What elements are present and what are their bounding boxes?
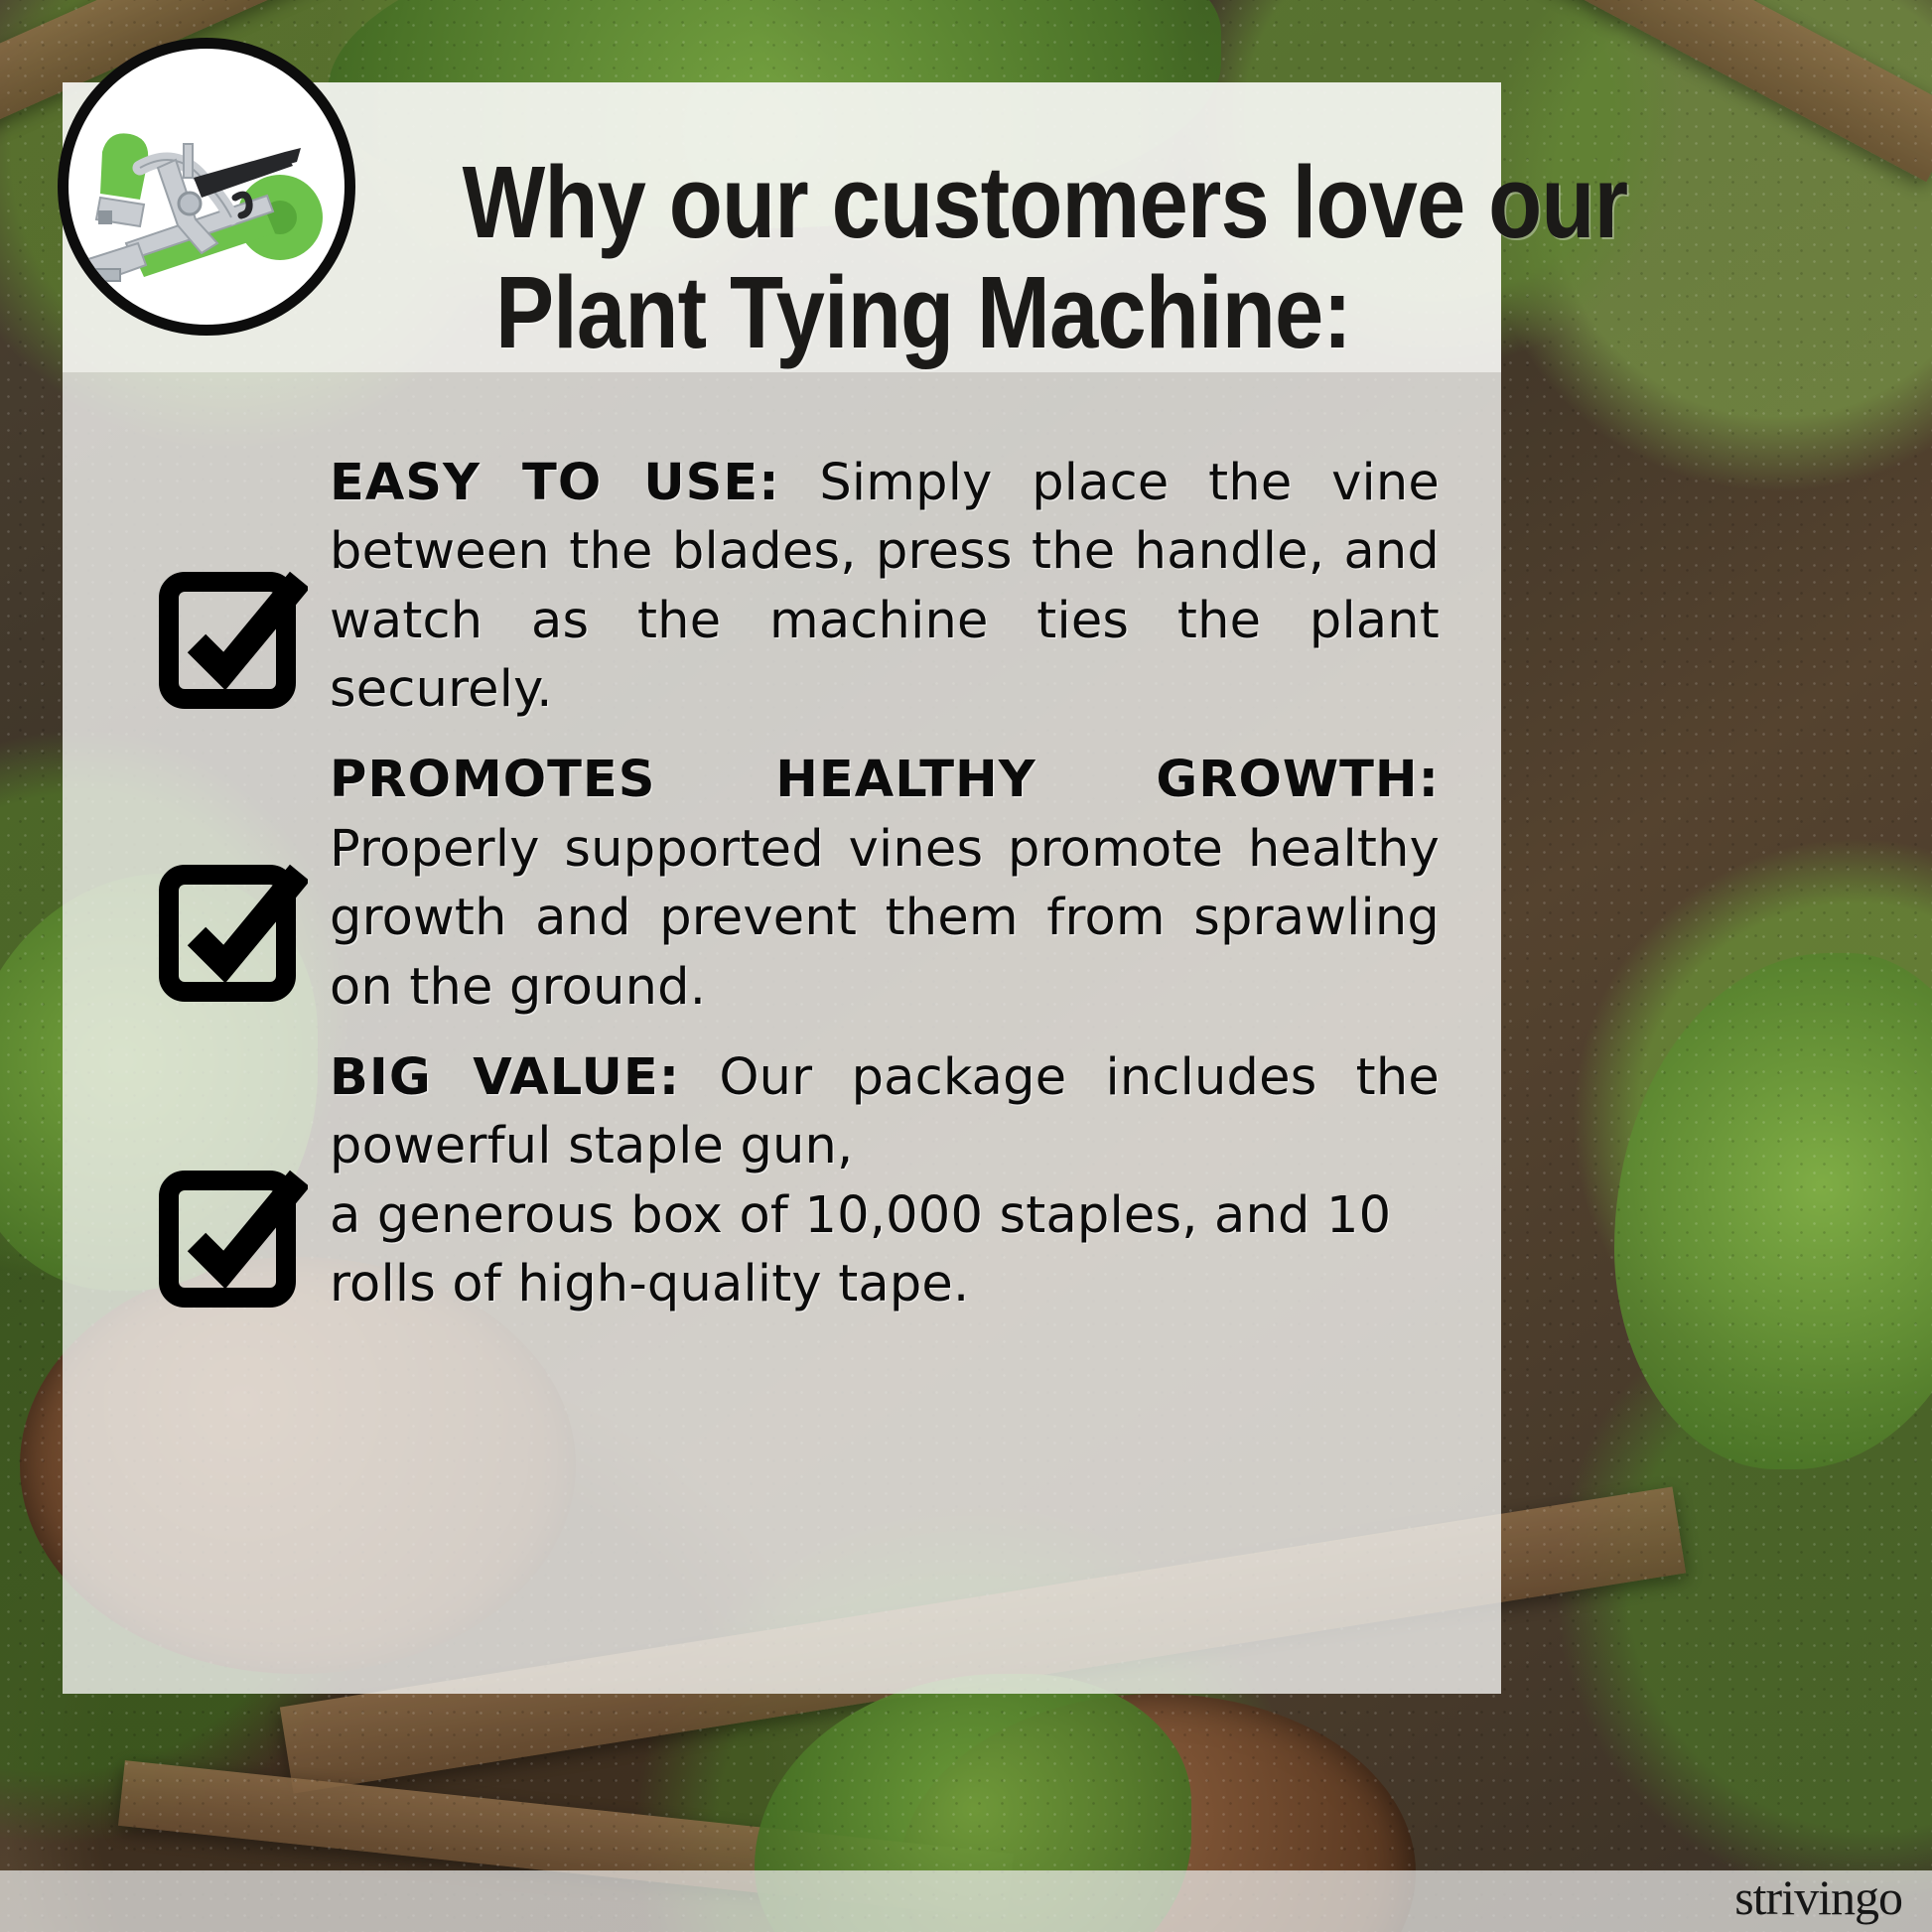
- list-item-heading: PROMOTES HEALTHY GROWTH:: [330, 751, 1440, 809]
- brand-logo: strivingo: [1734, 1868, 1902, 1926]
- page-title-line-2: Plant Tying Machine:: [463, 257, 1385, 367]
- list-item: PROMOTES HEALTHY GROWTH: Properly suppor…: [159, 746, 1440, 1021]
- checkbox-checked-icon: [159, 853, 308, 1002]
- list-item-text: BIG VALUE: Our package includes the powe…: [330, 1043, 1440, 1318]
- footer-band: [0, 1870, 1932, 1932]
- plant-tying-machine-icon: [69, 49, 345, 325]
- checkbox-checked-icon: [159, 1159, 308, 1308]
- list-item-body-line-2: a generous box of 10,000 staples, and 10…: [330, 1181, 1440, 1319]
- list-item-heading: EASY TO USE:: [330, 454, 780, 512]
- page-title-line-1: Why our customers love our: [463, 147, 1385, 257]
- benefits-list: EASY TO USE: Simply place the vine betwe…: [159, 449, 1440, 1340]
- list-item-body: Properly supported vines promote healthy…: [330, 820, 1440, 1017]
- list-item: BIG VALUE: Our package includes the powe…: [159, 1043, 1440, 1318]
- list-item-text: EASY TO USE: Simply place the vine betwe…: [330, 449, 1440, 724]
- product-logo-badge: [58, 38, 355, 336]
- list-item-text: PROMOTES HEALTHY GROWTH: Properly suppor…: [330, 746, 1440, 1021]
- page-title: Why our customers love our Plant Tying M…: [463, 147, 1385, 367]
- promo-poster: Why our customers love our Plant Tying M…: [0, 0, 1932, 1932]
- list-item-heading: BIG VALUE:: [330, 1048, 680, 1107]
- checkbox-checked-icon: [159, 560, 308, 709]
- list-item: EASY TO USE: Simply place the vine betwe…: [159, 449, 1440, 724]
